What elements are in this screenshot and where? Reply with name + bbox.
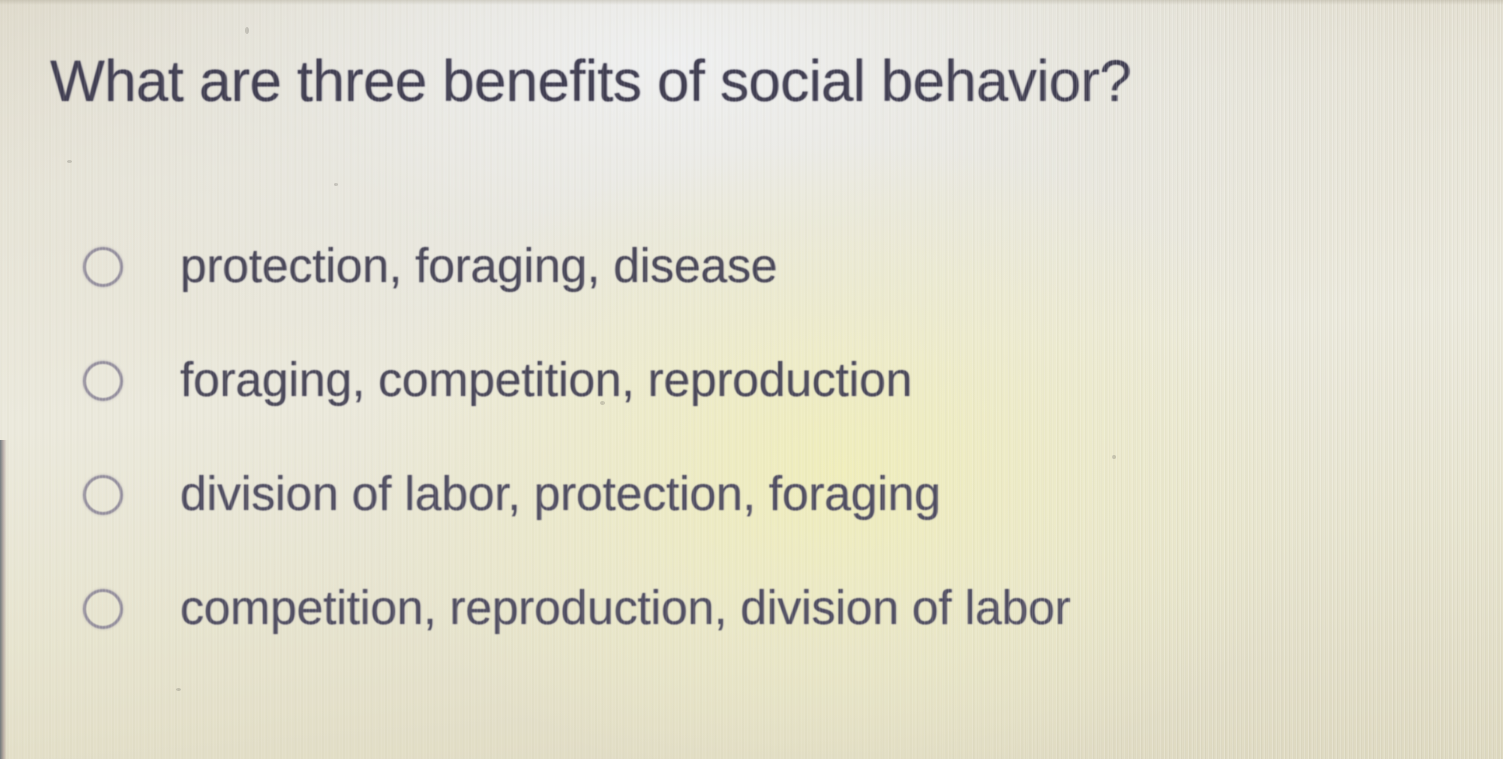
radio-unchecked-icon[interactable] <box>83 361 123 401</box>
answer-option-label: division of labor, protection, foraging <box>180 471 941 519</box>
answer-option-b[interactable]: foraging, competition, reproduction <box>0 324 1503 438</box>
answer-option-label: competition, reproduction, division of l… <box>180 585 1070 633</box>
radio-unchecked-icon[interactable] <box>83 475 123 515</box>
answer-option-c[interactable]: division of labor, protection, foraging <box>0 438 1503 552</box>
quiz-screen-photo: What are three benefits of social behavi… <box>0 0 1503 759</box>
answer-option-label: protection, foraging, disease <box>180 243 777 291</box>
radio-unchecked-icon[interactable] <box>83 589 123 629</box>
answer-option-a[interactable]: protection, foraging, disease <box>0 210 1503 324</box>
question-text: What are three benefits of social behavi… <box>50 52 1131 113</box>
radio-unchecked-icon[interactable] <box>83 247 123 287</box>
answer-option-label: foraging, competition, reproduction <box>180 357 912 405</box>
quiz-content: What are three benefits of social behavi… <box>0 0 1503 759</box>
answer-option-d[interactable]: competition, reproduction, division of l… <box>0 552 1503 666</box>
answer-options-group: protection, foraging, disease foraging, … <box>0 210 1503 666</box>
